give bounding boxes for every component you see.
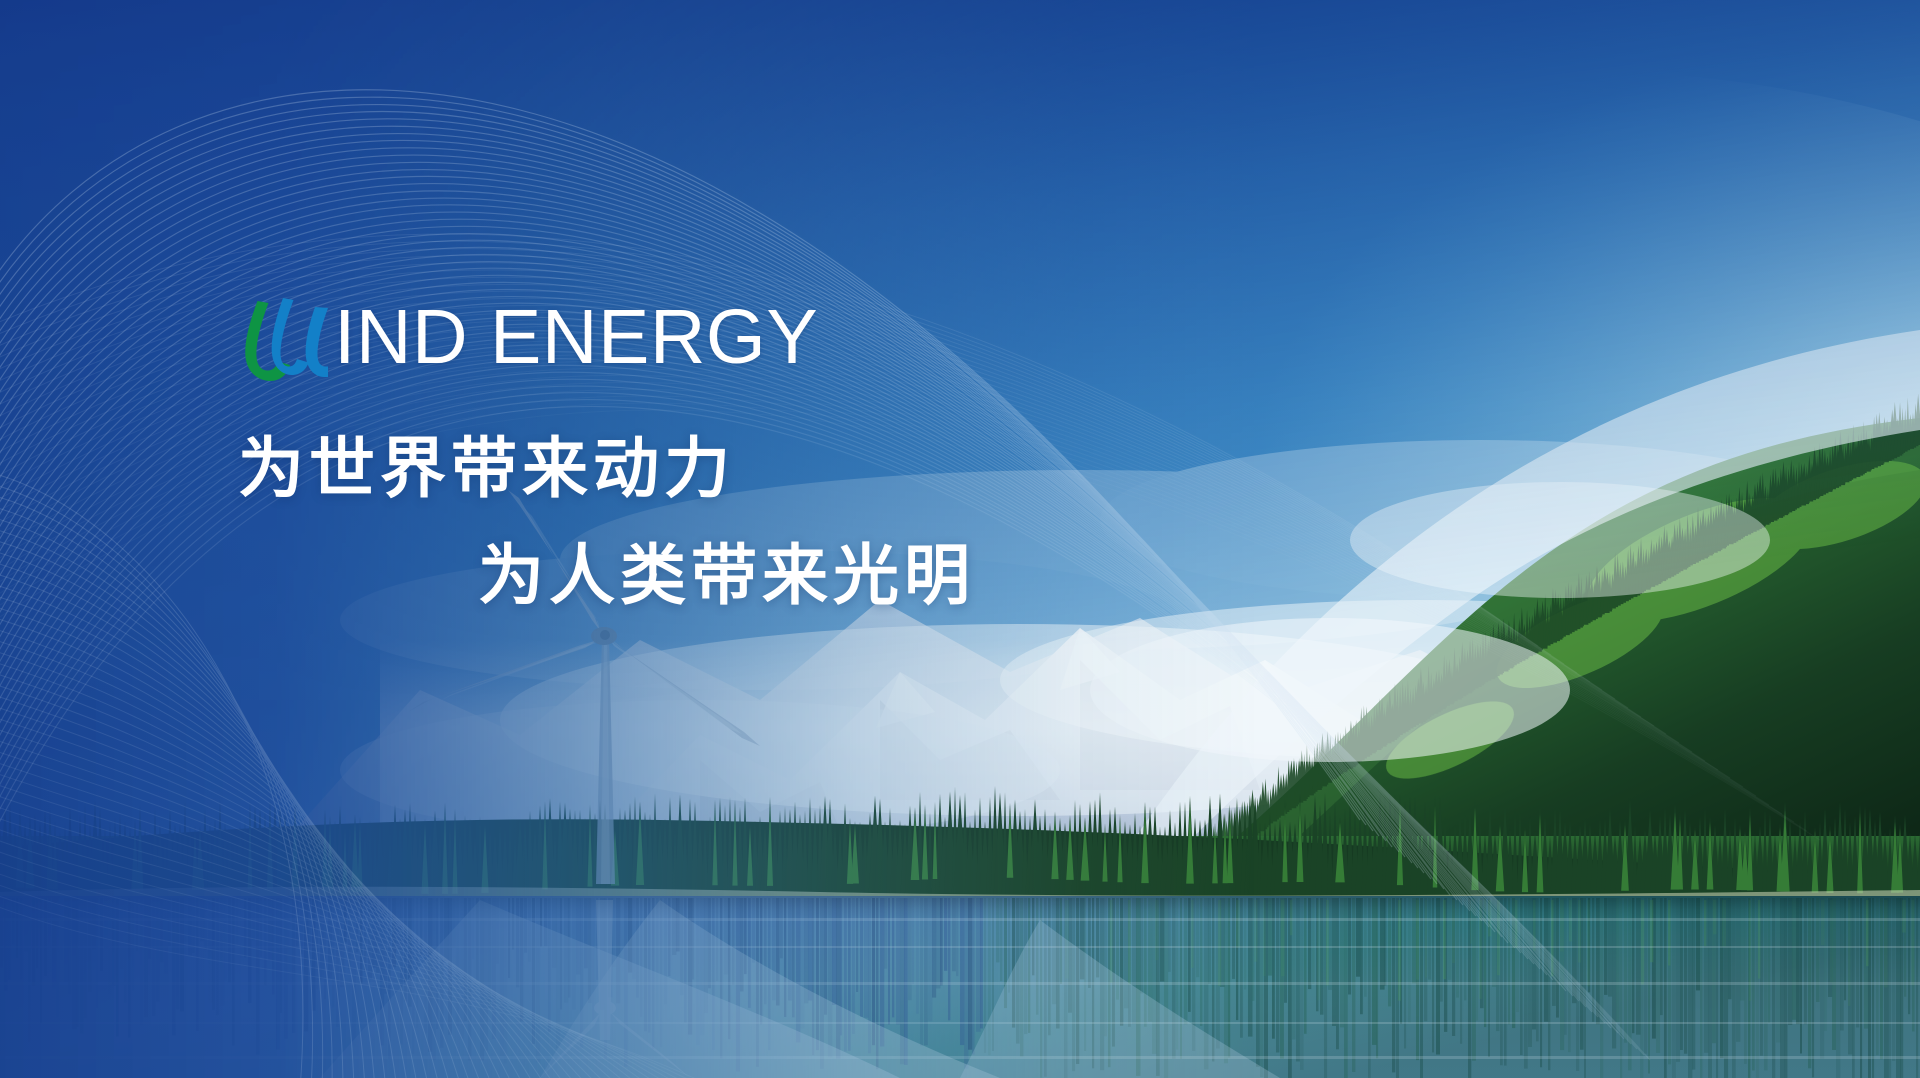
banner-root: IND ENERGY 为世界带来动力 为人类带来光明 (0, 0, 1920, 1078)
logo-blade-blue-right (306, 307, 328, 377)
slogan-line-2: 为人类带来光明 (478, 542, 975, 608)
logo-blade-blue-mid (272, 298, 309, 375)
wind-turbine-w-logo-icon (236, 297, 332, 383)
brand-logo[interactable]: IND ENERGY (236, 298, 818, 382)
brand-wordmark: IND ENERGY (334, 299, 818, 376)
slogan-line-1: 为世界带来动力 (238, 435, 735, 501)
